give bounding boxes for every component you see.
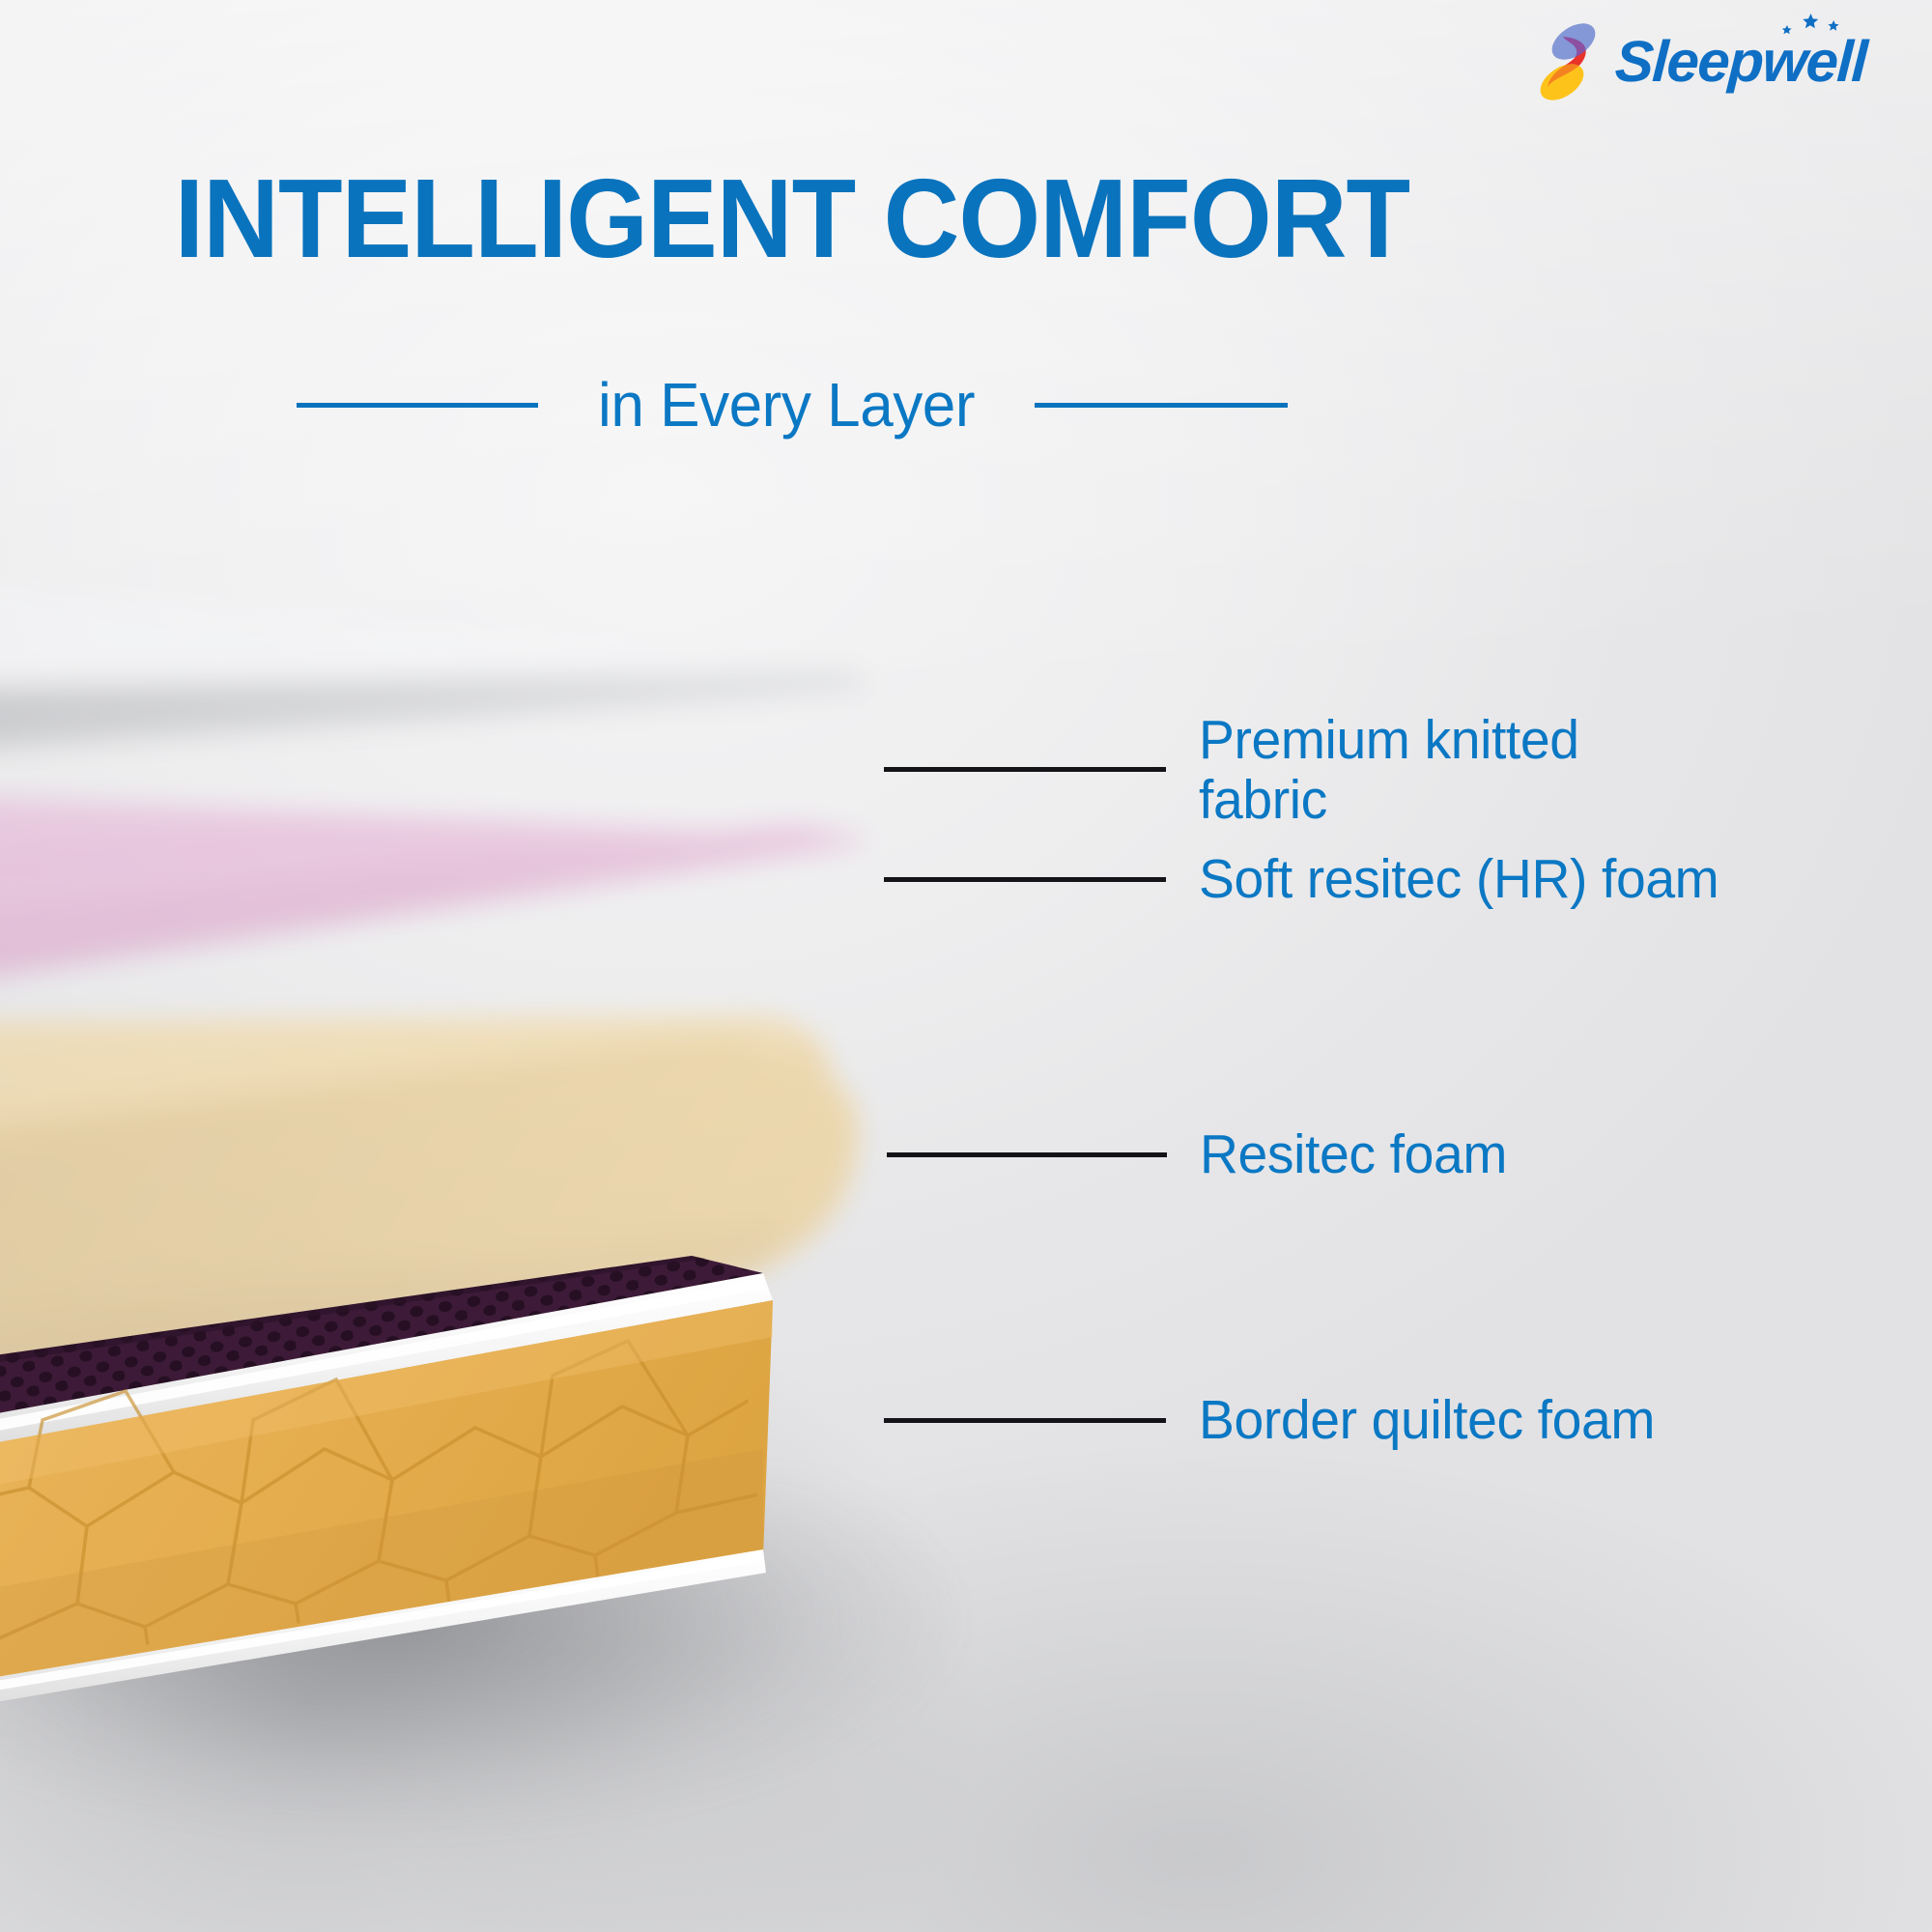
three-stars-icon <box>1767 14 1852 43</box>
layer-premium-knitted-fabric <box>0 568 874 734</box>
layer-label-resitec-foam: Resitec foam <box>1200 1125 1507 1185</box>
white-welt-cord-bottom <box>0 1549 766 1708</box>
layer-label-border-quiltec-foam: Border quiltec foam <box>1199 1391 1655 1451</box>
subtitle-row: in Every Layer <box>0 369 1584 440</box>
callout-resitec-foam: Resitec foam <box>887 1125 1517 1185</box>
leader-line-icon <box>884 767 1166 772</box>
layer-resitec-foam <box>0 1001 859 1372</box>
background-vignette <box>0 0 1932 1932</box>
floor-shadow <box>0 1478 1159 1932</box>
brand-logo: Sleepwell <box>1534 17 1866 106</box>
leader-line-icon <box>884 1418 1166 1423</box>
mattress-cutaway-illustration <box>0 0 1932 1932</box>
rule-right-decoration <box>1035 403 1288 408</box>
callout-soft-resitec-hr-foam: Soft resitec (HR) foam <box>884 850 1735 910</box>
page-subtitle: in Every Layer <box>598 369 975 440</box>
rule-left-decoration <box>297 403 538 408</box>
layer-label-soft-resitec-hr-foam: Soft resitec (HR) foam <box>1199 850 1719 910</box>
layer-label-premium-knitted-fabric: Premium knitted fabric <box>1199 711 1579 830</box>
sleepwell-s-mark-icon <box>1534 17 1602 106</box>
layer-perforated-core <box>0 1256 763 1420</box>
infographic-canvas: Sleepwell INTELLIGENT COMFORT in Every L… <box>0 0 1932 1932</box>
callout-border-quiltec-foam: Border quiltec foam <box>884 1391 1669 1451</box>
callout-premium-knitted-fabric: Premium knitted fabric <box>884 710 1591 829</box>
leader-line-icon <box>884 877 1166 882</box>
page-title: INTELLIGENT COMFORT <box>47 162 1537 274</box>
layer-soft-resitec-hr-foam <box>0 781 874 966</box>
brand-wordmark: Sleepwell <box>1613 33 1867 91</box>
layer-border-quiltec-foam <box>0 1256 773 1700</box>
leader-line-icon <box>887 1152 1167 1157</box>
white-welt-cord-top <box>0 1273 773 1449</box>
